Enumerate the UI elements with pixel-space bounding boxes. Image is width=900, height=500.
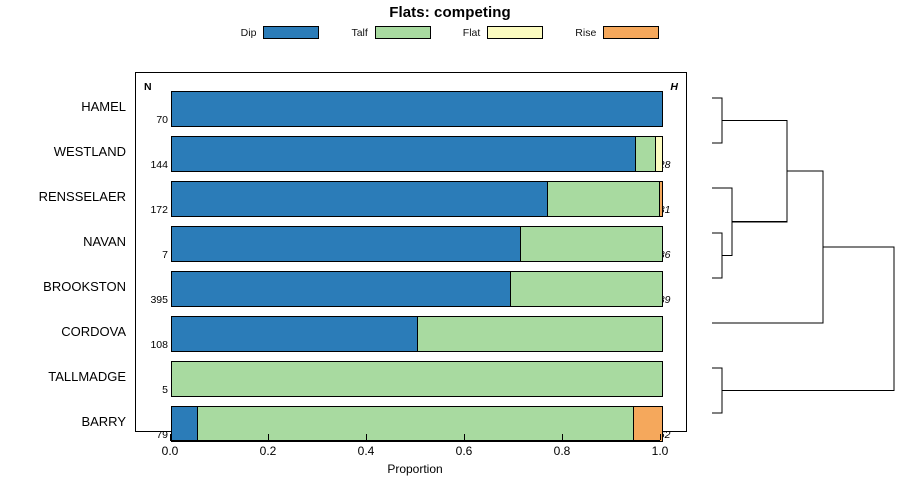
bar-segment-talf[interactable] [547, 182, 659, 216]
legend-swatch-dip-icon [263, 26, 319, 39]
x-tick-label: 0.6 [444, 444, 484, 458]
bar-segment-dip[interactable] [172, 407, 197, 441]
n-value: 5 [138, 384, 168, 396]
legend-swatch-talf-icon [375, 26, 431, 39]
x-axis-line [170, 440, 660, 441]
plot-area: HAMELWESTLANDRENSSELAERNAVANBROOKSTONCOR… [135, 72, 687, 432]
link-cordova-merge [712, 171, 823, 323]
bar-row[interactable] [171, 181, 663, 217]
legend-label: Rise [575, 27, 596, 39]
bar-row[interactable] [171, 91, 663, 127]
n-value: 7 [138, 249, 168, 261]
n-value: 79 [138, 429, 168, 441]
x-tick-label: 0.4 [346, 444, 386, 458]
x-axis-title: Proportion [0, 462, 830, 476]
n-value: 172 [138, 204, 168, 216]
x-tick [464, 434, 465, 440]
chart-title: Flats: competing [0, 4, 900, 21]
row-label-barry: BARRY [0, 414, 126, 429]
n-value: 108 [138, 339, 168, 351]
x-tick [268, 434, 269, 440]
bar-segment-dip[interactable] [172, 272, 510, 306]
legend: DipTalfFlatRise [0, 26, 900, 39]
row-label-column: HAMELWESTLANDRENSSELAERNAVANBROOKSTONCOR… [0, 73, 126, 433]
x-tick-label: 1.0 [640, 444, 680, 458]
legend-swatch-flat-icon [487, 26, 543, 39]
x-tick [562, 434, 563, 440]
legend-swatch-rise-icon [603, 26, 659, 39]
bar-segment-dip[interactable] [172, 317, 417, 351]
row-label-rensselaer: RENSSELAER [0, 189, 126, 204]
link-hamel-westland [712, 98, 722, 143]
h-column-header: H [670, 81, 678, 93]
legend-item-flat: Flat [463, 26, 544, 39]
chart-canvas: Flats: competing DipTalfFlatRise HAMELWE… [0, 0, 900, 500]
legend-item-dip: Dip [241, 26, 320, 39]
bar-segment-dip[interactable] [172, 92, 662, 126]
link-tallmadge-barry [712, 368, 722, 413]
n-value: 395 [138, 294, 168, 306]
bar-segment-talf[interactable] [520, 227, 662, 261]
row-label-cordova: CORDOVA [0, 324, 126, 339]
bar-row[interactable] [171, 406, 663, 442]
dendrogram [690, 72, 900, 432]
bar-row[interactable] [171, 316, 663, 352]
bar-segment-talf[interactable] [635, 137, 655, 171]
x-tick-label: 0.2 [248, 444, 288, 458]
n-value: 70 [138, 114, 168, 126]
legend-item-talf: Talf [351, 26, 430, 39]
legend-label: Dip [241, 27, 257, 39]
x-tick [170, 434, 171, 440]
bar-segment-talf[interactable] [197, 407, 633, 441]
bar-segment-rise[interactable] [633, 407, 662, 441]
row-label-hamel: HAMEL [0, 99, 126, 114]
x-tick [660, 434, 661, 440]
bar-row[interactable] [171, 361, 663, 397]
x-tick-label: 0.0 [150, 444, 190, 458]
n-column-header: N [144, 81, 152, 93]
legend-item-rise: Rise [575, 26, 659, 39]
x-tick [366, 434, 367, 440]
row-label-tallmadge: TALLMADGE [0, 369, 126, 384]
bar-segment-talf[interactable] [172, 362, 662, 396]
bar-segment-dip[interactable] [172, 182, 547, 216]
row-label-westland: WESTLAND [0, 144, 126, 159]
bar-segment-talf[interactable] [417, 317, 662, 351]
link-root [722, 247, 894, 391]
n-value: 144 [138, 159, 168, 171]
dendrogram-links [712, 98, 894, 413]
row-label-brookston: BROOKSTON [0, 279, 126, 294]
bar-segment-talf[interactable] [510, 272, 662, 306]
row-label-navan: NAVAN [0, 234, 126, 249]
dendrogram-svg [690, 72, 900, 432]
bar-segment-rise[interactable] [659, 182, 662, 216]
bar-segment-dip[interactable] [172, 137, 635, 171]
bar-segment-dip[interactable] [172, 227, 520, 261]
bar-segment-flat[interactable] [655, 137, 662, 171]
bar-row[interactable] [171, 271, 663, 307]
legend-label: Flat [463, 27, 481, 39]
legend-label: Talf [351, 27, 367, 39]
x-tick-label: 0.8 [542, 444, 582, 458]
bar-row[interactable] [171, 226, 663, 262]
bar-row[interactable] [171, 136, 663, 172]
link-navan-brookston [712, 233, 722, 278]
